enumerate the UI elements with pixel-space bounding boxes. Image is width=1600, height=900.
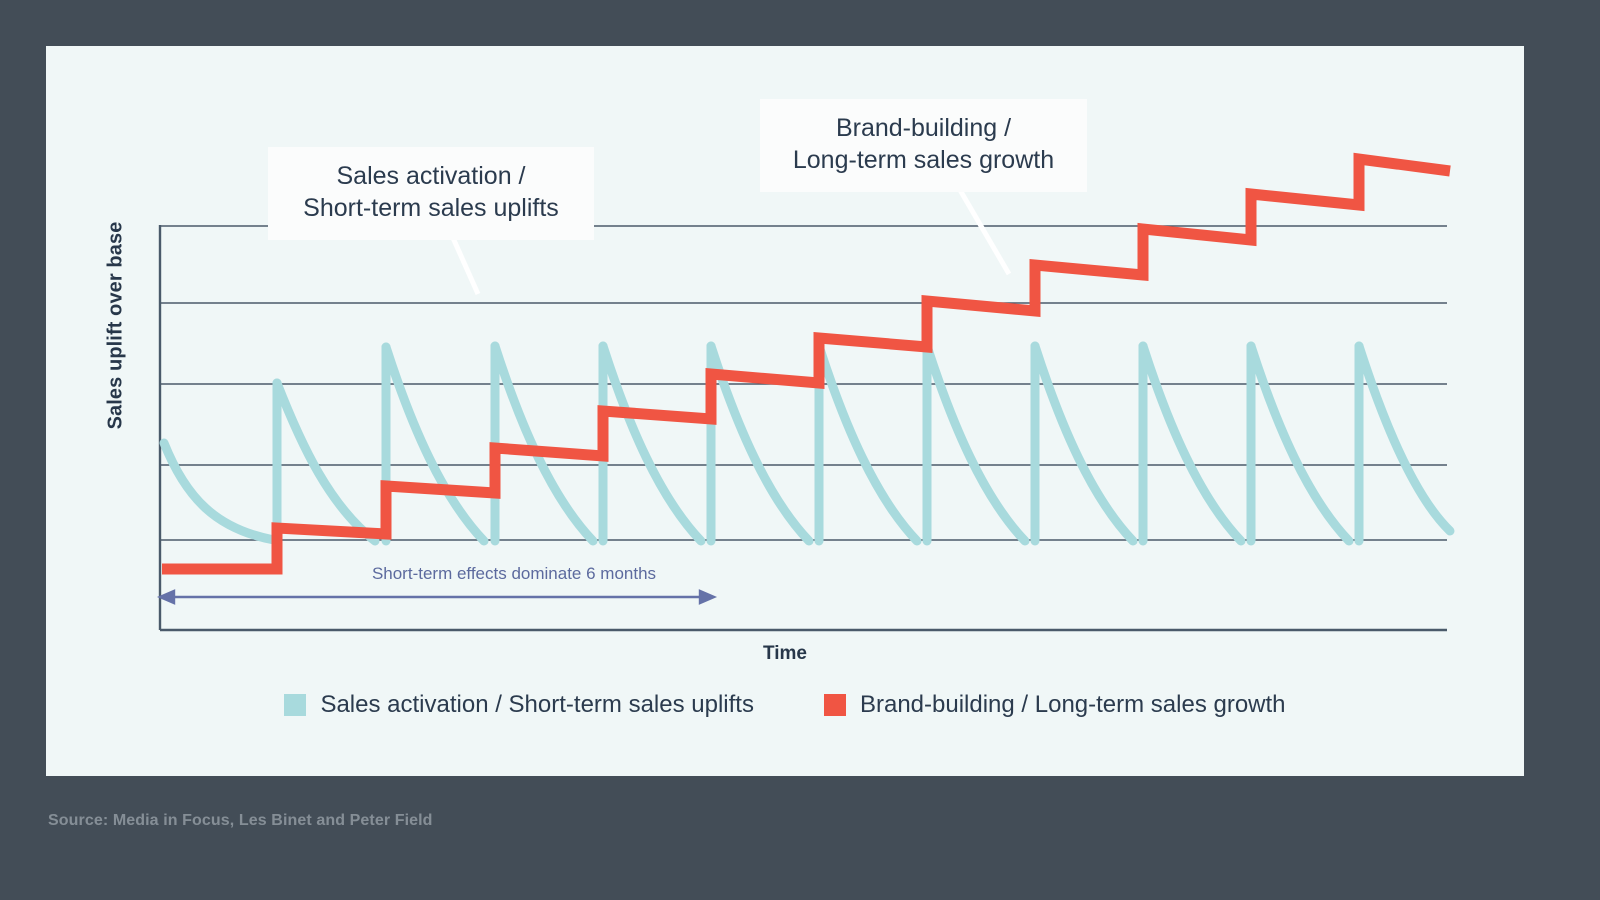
legend-item-brand-building: Brand-building / Long-term sales growth: [824, 691, 1286, 719]
spike-2-decay: [386, 347, 484, 541]
annotation-duration-label: Short-term effects dominate 6 months: [314, 564, 714, 584]
spike-4-decay: [603, 346, 701, 541]
legend-swatch-icon: [824, 694, 846, 716]
duration-arrow: [160, 591, 714, 603]
duration-arrow-head-right: [700, 591, 714, 603]
spike-7-decay: [927, 346, 1025, 541]
series-sales-activation: [164, 346, 1450, 541]
legend-item-sales-activation: Sales activation / Short-term sales upli…: [284, 691, 754, 719]
x-axis-title: Time: [46, 643, 1524, 665]
spike-10-decay: [1251, 346, 1349, 541]
duration-arrow-head-left: [160, 591, 174, 603]
spike-9-decay: [1143, 346, 1241, 541]
spike-6-decay: [819, 346, 917, 541]
spike-1: [277, 382, 374, 540]
spike-1b: [277, 383, 376, 540]
callout-sales-activation: Sales activation / Short-term sales upli…: [268, 147, 594, 240]
legend-swatch-icon: [284, 694, 306, 716]
legend-label: Sales activation / Short-term sales upli…: [320, 691, 754, 719]
spike-3-decay: [495, 346, 593, 541]
spike-11-decay: [1359, 346, 1450, 531]
source-attribution: Source: Media in Focus, Les Binet and Pe…: [48, 812, 433, 830]
spike-1-decay: [277, 383, 375, 541]
y-axis-title: Sales uplift over base: [105, 196, 128, 456]
spike-8-decay: [1035, 346, 1133, 541]
spike-decay-0: [164, 443, 274, 540]
chart-legend: Sales activation / Short-term sales upli…: [46, 691, 1524, 719]
chart-figure: Sales uplift over base Time Sales activa…: [46, 46, 1524, 776]
legend-label: Brand-building / Long-term sales growth: [860, 691, 1286, 719]
callout-brand-building: Brand-building / Long-term sales growth: [760, 99, 1087, 192]
